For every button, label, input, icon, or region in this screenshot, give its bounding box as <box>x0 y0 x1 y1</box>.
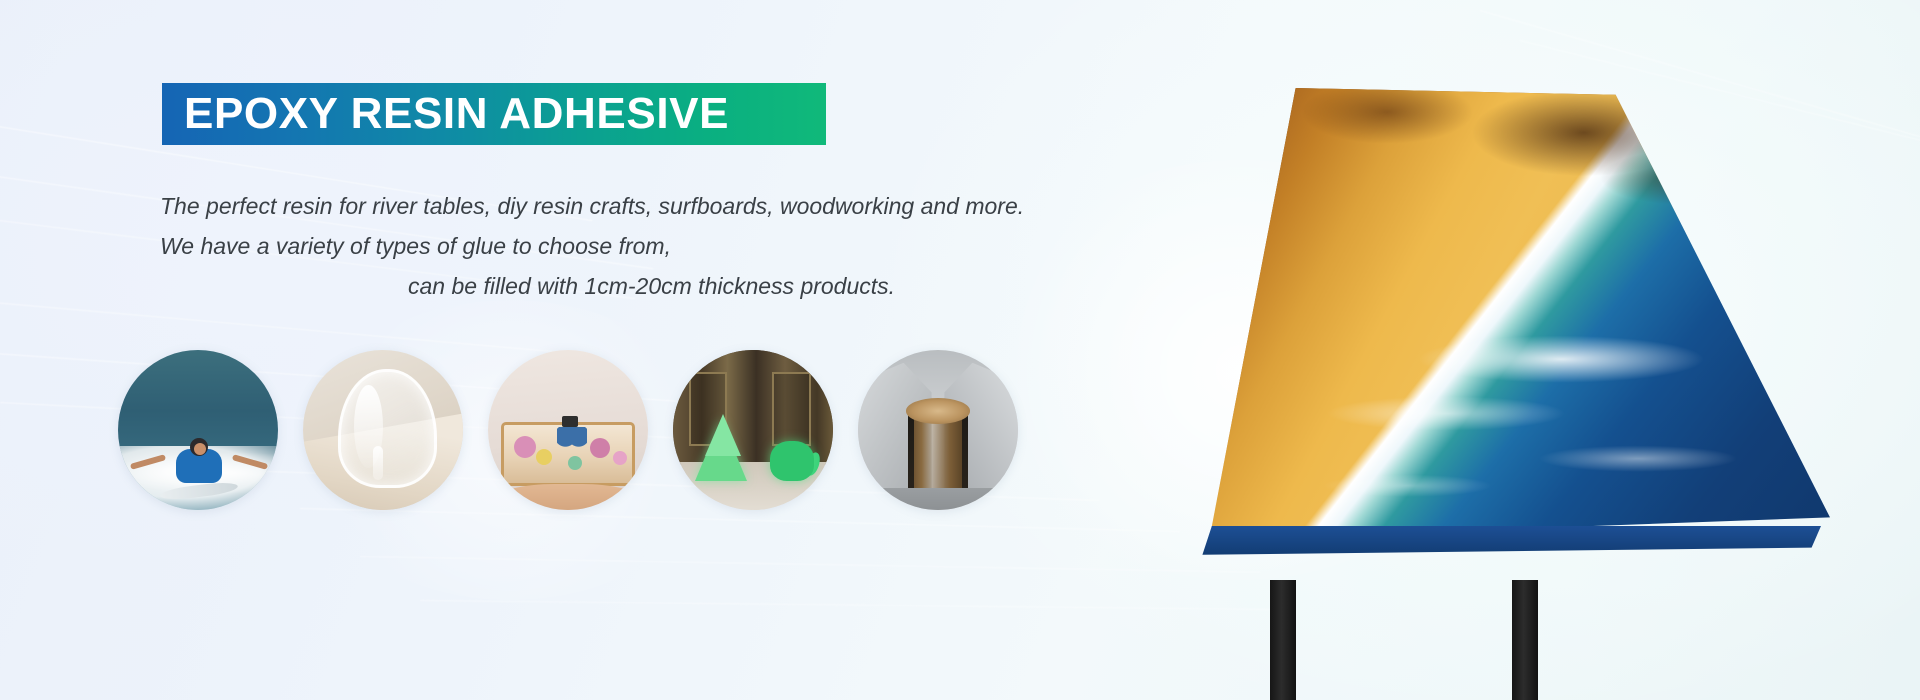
resin-vessel <box>338 369 437 487</box>
surfer-scene <box>118 350 278 510</box>
clutch-scene <box>488 350 648 510</box>
thumbnail-butterfly-flower-clutch[interactable] <box>488 350 648 510</box>
pressed-flower <box>568 456 582 470</box>
surfer-face <box>194 443 206 455</box>
thumbnail-surfing-board[interactable] <box>118 350 278 510</box>
clutch-clasp <box>562 416 578 427</box>
subtitle-line-1: The perfect resin for river tables, diy … <box>160 186 990 226</box>
table-leg <box>1270 580 1296 700</box>
table-leg <box>1512 580 1538 700</box>
hero-product-image <box>1060 60 1920 700</box>
resin-bunny-figurine <box>770 441 814 481</box>
floor <box>858 488 1018 510</box>
epoxy-river-table-top <box>1190 88 1830 540</box>
subtitle-line-3: can be filled with 1cm-20cm thickness pr… <box>160 266 990 306</box>
wood-log-top <box>906 398 970 424</box>
page-title-bar: EPOXY RESIN ADHESIVE <box>162 83 826 145</box>
epoxy-resin-adhesive-banner: EPOXY RESIN ADHESIVE The perfect resin f… <box>0 0 1920 700</box>
resin-christmas-tree-top <box>705 414 741 456</box>
resin-pour-scene <box>303 350 463 510</box>
product-thumbnail-strip <box>118 345 1018 520</box>
thumbnail-green-resin-figurines[interactable] <box>673 350 833 510</box>
pressed-flower <box>514 436 536 458</box>
thumbnail-clear-resin-pour[interactable] <box>303 350 463 510</box>
ocean-wave-foam <box>1190 88 1830 540</box>
figurine-scene <box>673 350 833 510</box>
page-title: EPOXY RESIN ADHESIVE <box>162 92 729 136</box>
pressed-flower <box>613 451 627 465</box>
subtitle-line-2: We have a variety of types of glue to ch… <box>160 226 990 266</box>
resin-drip <box>373 446 383 480</box>
table-edge <box>1193 526 1821 556</box>
holding-hand <box>498 484 639 510</box>
cabinet-panel <box>772 372 810 446</box>
side-table-scene <box>858 350 1018 510</box>
subtitle-block: The perfect resin for river tables, diy … <box>160 186 990 306</box>
butterfly-motif <box>557 427 587 449</box>
thumbnail-live-edge-side-table[interactable] <box>858 350 1018 510</box>
